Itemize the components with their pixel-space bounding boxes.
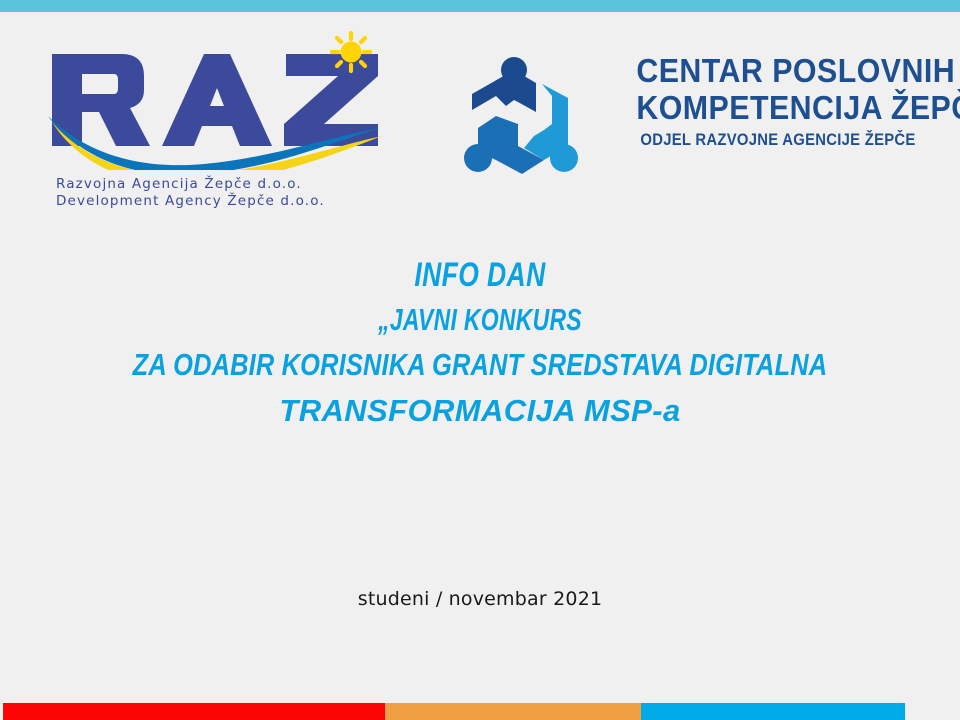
title-line-3: ZA ODABIR KORISNIKA GRANT SREDSTAVA DIGI… bbox=[86, 342, 873, 387]
raz-tagline-en: Development Agency Žepče d.o.o. bbox=[56, 193, 386, 210]
raz-tagline: Razvojna Agencija Žepče d.o.o. Developme… bbox=[56, 176, 386, 210]
swoosh-icon bbox=[44, 108, 384, 170]
cpk-subtitle: ODJEL RAZVOJNE AGENCIJE ŽEPČE bbox=[639, 131, 916, 150]
cpk-wordmark: CENTAR POSLOVNIH KOMPETENCIJA ŽEPČE ODJE… bbox=[624, 52, 932, 150]
title-line-2: „JAVNI KONKURS bbox=[125, 298, 835, 342]
bottom-bar-red bbox=[3, 703, 385, 720]
slide-title-block: INFO DAN „JAVNI KONKURS ZA ODABIR KORISN… bbox=[0, 252, 960, 435]
bottom-bar-blue bbox=[641, 703, 905, 720]
bottom-bar-orange bbox=[385, 703, 641, 720]
slide-date: studeni / novembar 2021 bbox=[0, 588, 960, 610]
cpk-line-2: KOMPETENCIJA ŽEPČE bbox=[636, 89, 919, 126]
bottom-accent-bars bbox=[3, 703, 905, 720]
title-line-1: INFO DAN bbox=[106, 252, 855, 298]
raz-tagline-bs: Razvojna Agencija Žepče d.o.o. bbox=[56, 176, 386, 193]
presentation-slide: Razvojna Agencija Žepče d.o.o. Developme… bbox=[0, 0, 960, 720]
people-hexagon-icon bbox=[452, 48, 592, 188]
raz-logo-mark bbox=[44, 30, 384, 170]
logo-row: Razvojna Agencija Žepče d.o.o. Developme… bbox=[0, 12, 960, 222]
raz-logo: Razvojna Agencija Žepče d.o.o. Developme… bbox=[44, 30, 384, 220]
cpk-logo: CENTAR POSLOVNIH KOMPETENCIJA ŽEPČE ODJE… bbox=[452, 40, 932, 200]
cpk-line-1: CENTAR POSLOVNIH bbox=[636, 52, 919, 89]
title-line-4: TRANSFORMACIJA MSP-a bbox=[0, 387, 960, 435]
sun-icon bbox=[325, 30, 377, 76]
top-accent-bar bbox=[0, 0, 960, 12]
